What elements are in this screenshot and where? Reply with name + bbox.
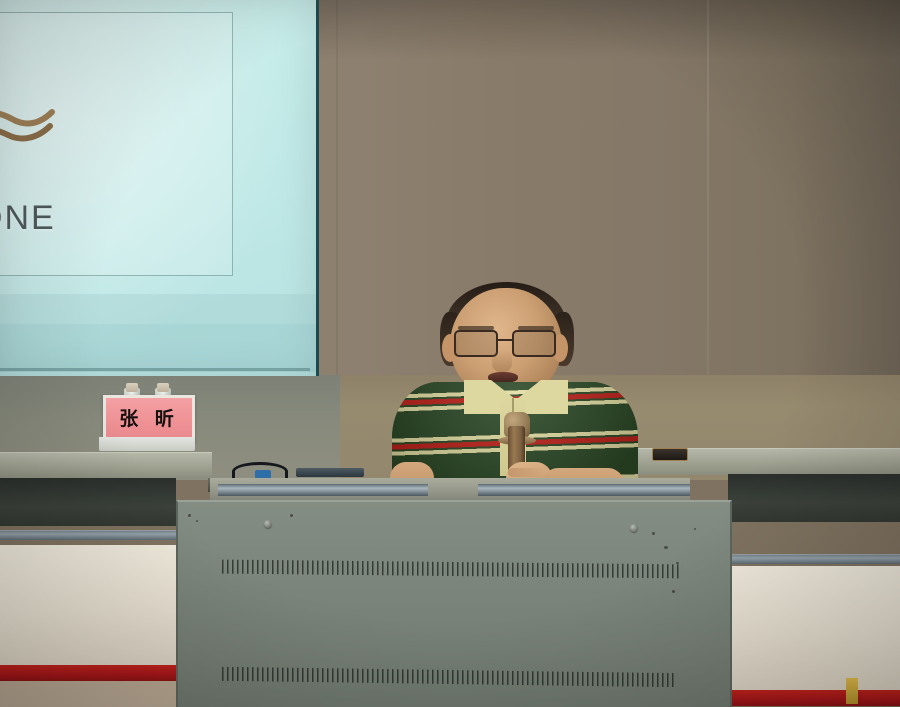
bottle-cap-icon xyxy=(157,383,169,392)
right-desk-cavity xyxy=(728,474,900,522)
surface-speck xyxy=(672,590,675,593)
yellow-tape-marker xyxy=(846,678,858,704)
name-card: 张 昕 xyxy=(103,395,195,443)
lecture-photo-scene: ONE 张 昕 xyxy=(0,0,900,707)
bottle-cap-icon xyxy=(126,383,138,392)
podium-vent-row-upper xyxy=(222,560,682,579)
right-desk-front xyxy=(728,566,900,690)
podium-drawer-rail-left xyxy=(218,484,428,496)
right-desk-drawer-rail xyxy=(728,554,900,564)
lens-left xyxy=(454,330,498,357)
left-desk-front xyxy=(0,545,176,665)
surface-speck xyxy=(290,514,293,517)
podium-screw xyxy=(630,524,638,532)
screen-bottom-edge xyxy=(0,368,310,371)
surface-speck xyxy=(694,528,696,530)
surface-speck xyxy=(676,562,679,564)
screen-light-band xyxy=(0,324,316,372)
podium-vent-row-lower xyxy=(222,667,677,687)
podium-body xyxy=(176,500,732,707)
podium-screw xyxy=(264,520,272,528)
wave-logo-icon xyxy=(0,102,80,152)
surface-speck xyxy=(196,520,198,522)
nose xyxy=(492,350,512,372)
slide-title: ONE xyxy=(0,199,56,238)
name-card-text: 张 昕 xyxy=(119,410,179,429)
left-desk-top xyxy=(0,452,212,479)
surface-speck xyxy=(652,532,655,535)
name-card-stand xyxy=(99,437,195,451)
right-desk-red-stripe xyxy=(728,690,900,706)
glasses-bridge xyxy=(496,339,514,341)
screen-light-band xyxy=(0,294,316,324)
surface-speck xyxy=(664,546,668,549)
laptop-edge xyxy=(296,468,364,477)
podium-drawer-rail-right xyxy=(478,484,690,496)
left-desk-red-stripe xyxy=(0,665,176,681)
left-floor xyxy=(0,681,176,707)
mobile-phone xyxy=(652,448,688,461)
speaker-person xyxy=(392,286,638,500)
left-desk-cavity xyxy=(0,478,176,526)
projection-screen: ONE xyxy=(0,0,319,376)
left-desk-drawer-rail xyxy=(0,530,176,540)
surface-speck xyxy=(188,514,191,517)
lens-right xyxy=(512,330,556,357)
